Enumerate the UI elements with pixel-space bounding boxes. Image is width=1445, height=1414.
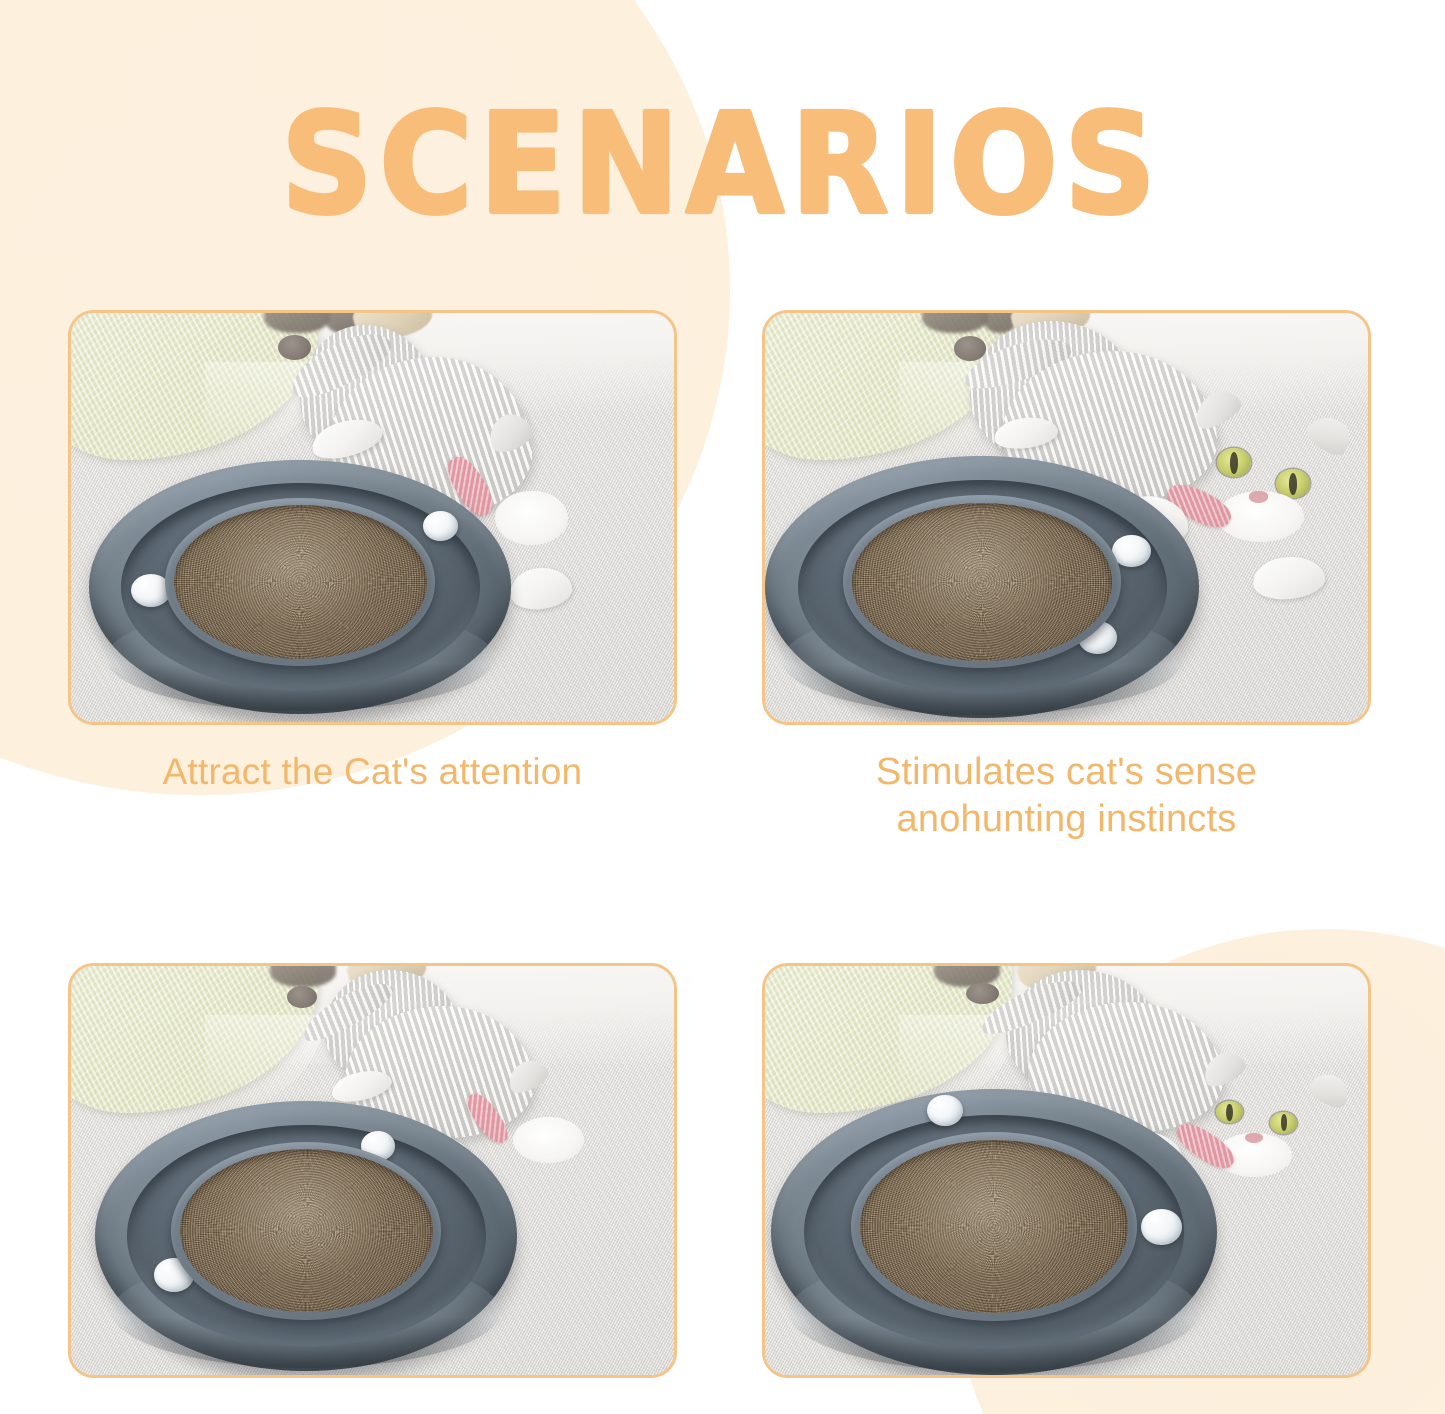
cat-nose (1249, 491, 1269, 503)
toy-inner-lip (171, 1142, 441, 1320)
scenario-caption-1: Attract the Cat's attention (68, 749, 677, 795)
scenario-card-4[interactable]: Bring more fun to your cat (762, 963, 1371, 1414)
scenario-caption-4: Bring more fun to your cat (762, 1408, 1371, 1414)
toy-inner-lip (843, 495, 1121, 668)
cat-eye-right (1270, 1112, 1297, 1134)
scenario-photo-4 (762, 963, 1371, 1378)
cat-tail-tip (954, 336, 986, 360)
cat-ear-right (1303, 409, 1358, 461)
scenario-photo-1 (68, 310, 677, 725)
infographic-page: SCENARIOS (0, 0, 1445, 1414)
title-container: SCENARIOS (0, 92, 1445, 223)
scenario-photo-3 (68, 963, 677, 1378)
green-cushion (68, 963, 318, 1113)
cat-toy-1 (89, 460, 511, 714)
cat-muzzle (513, 1117, 584, 1163)
toy-ball (927, 1095, 963, 1126)
scenario-card-2[interactable]: Stimulates cat's sense anohunting instin… (762, 310, 1371, 843)
cat-toy-4 (771, 1089, 1217, 1375)
toy-cardboard-pad (174, 505, 427, 658)
scenario-photo-2 (762, 310, 1371, 725)
cat-eye-left (1216, 1101, 1243, 1123)
toy-cardboard-pad (860, 1140, 1127, 1313)
cat-eye-left (1217, 448, 1251, 477)
toy-inner-lip (165, 498, 435, 665)
cat-tail-tip (278, 335, 311, 361)
toy-cardboard-pad (180, 1149, 433, 1312)
toy-inner-lip (851, 1132, 1137, 1321)
scenario-card-3[interactable]: Satisfy curiosity (68, 963, 677, 1414)
cat-hind-paw (507, 564, 574, 614)
scenario-card-1[interactable]: Attract the Cat's attention (68, 310, 677, 843)
scenario-grid: Attract the Cat's attention (68, 310, 1371, 1414)
scenario-row-2: Satisfy curiosity (68, 963, 1371, 1414)
scenario-caption-2: Stimulates cat's sense anohunting instin… (762, 749, 1371, 843)
page-title: SCENARIOS (282, 92, 1163, 239)
toy-cardboard-pad (852, 503, 1112, 661)
toy-ball (1141, 1209, 1181, 1245)
cat-hind-paw (1251, 554, 1327, 604)
scenario-caption-3: Satisfy curiosity (68, 1408, 677, 1414)
cat-toy-3 (95, 1101, 517, 1371)
green-cushion (68, 310, 318, 460)
scenario-row-1: Attract the Cat's attention (68, 310, 1371, 843)
cat-toy-2 (765, 456, 1199, 718)
cat-ear-right (1305, 1067, 1354, 1112)
background-object (934, 963, 1000, 986)
cat-nose (1245, 1133, 1263, 1143)
